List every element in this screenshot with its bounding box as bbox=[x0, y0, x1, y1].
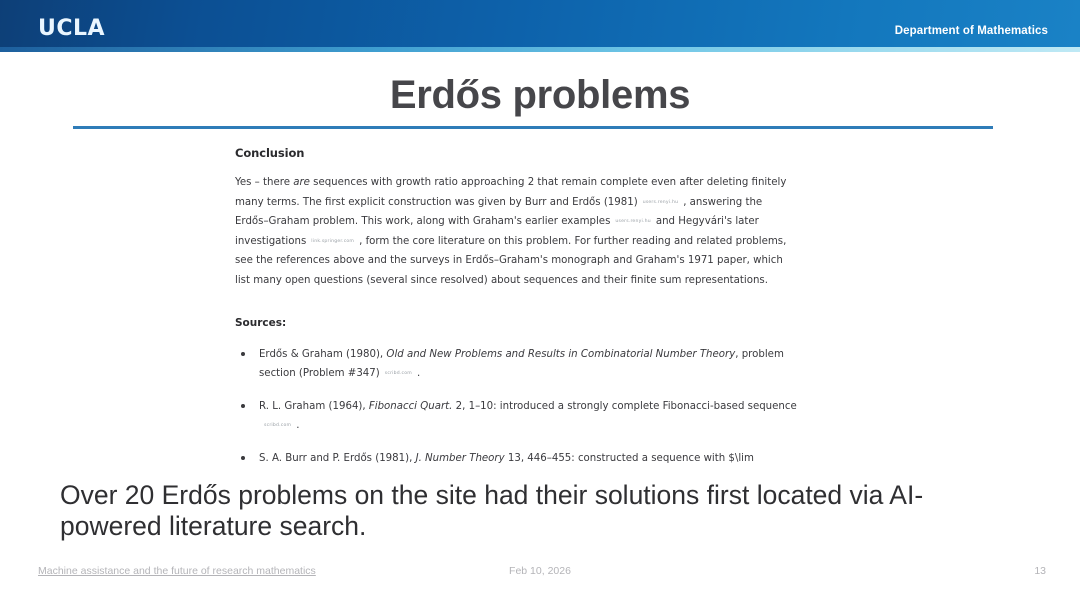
conclusion-heading: Conclusion bbox=[235, 146, 806, 160]
list-item: S. A. Burr and P. Erdős (1981), J. Numbe… bbox=[235, 449, 803, 469]
paragraph-part-1: Yes – there bbox=[235, 177, 293, 188]
department-label: Department of Mathematics bbox=[895, 25, 1048, 37]
source-title-italic: J. Number Theory bbox=[416, 453, 505, 464]
citation-chip-1[interactable]: users.renyi.hu bbox=[643, 193, 678, 213]
page-title: Erdős problems bbox=[0, 73, 1080, 118]
ucla-logo: UCLA bbox=[38, 16, 105, 41]
slide-caption: Over 20 Erdős problems on the site had t… bbox=[60, 480, 1020, 542]
sources-list: Erdős & Graham (1980), Old and New Probl… bbox=[235, 345, 803, 469]
bullet-icon bbox=[241, 352, 245, 356]
bullet-icon bbox=[241, 456, 245, 460]
list-item: R. L. Graham (1964), Fibonacci Quart. 2,… bbox=[235, 397, 803, 436]
paragraph-emphasis: are bbox=[293, 177, 310, 188]
source-text-after: 2, 1–10: introduced a strongly complete … bbox=[452, 401, 796, 412]
title-underline-rule bbox=[73, 126, 993, 129]
embedded-screenshot: Conclusion Yes – there are sequences wit… bbox=[206, 142, 806, 477]
header-accent-stripe bbox=[0, 47, 1080, 52]
source-text-before: Erdős & Graham (1980), bbox=[259, 349, 386, 360]
source-text-before: S. A. Burr and P. Erdős (1981), bbox=[259, 453, 416, 464]
slide-header-band bbox=[0, 0, 1080, 47]
source-title-italic: Fibonacci Quart. bbox=[369, 401, 453, 412]
source-tail: . bbox=[417, 368, 420, 379]
conclusion-paragraph: Yes – there are sequences with growth ra… bbox=[235, 173, 797, 291]
source-title-italic: Old and New Problems and Results in Comb… bbox=[386, 349, 735, 360]
footer-page-number: 13 bbox=[1034, 565, 1046, 577]
source-text-after: 13, 446–455: constructed a sequence with… bbox=[505, 453, 754, 464]
citation-chip-3[interactable]: link.springer.com bbox=[311, 232, 354, 252]
source-citation-chip[interactable]: scribd.com bbox=[264, 416, 291, 436]
sources-heading: Sources: bbox=[235, 317, 806, 329]
slide: UCLA Department of Mathematics Erdős pro… bbox=[0, 0, 1080, 605]
list-item: Erdős & Graham (1980), Old and New Probl… bbox=[235, 345, 803, 384]
source-tail: . bbox=[296, 420, 299, 431]
footer-date: Feb 10, 2026 bbox=[0, 565, 1080, 577]
bullet-icon bbox=[241, 404, 245, 408]
citation-chip-2[interactable]: users.renyi.hu bbox=[615, 212, 650, 232]
source-citation-chip[interactable]: scribd.com bbox=[385, 364, 412, 384]
source-text-before: R. L. Graham (1964), bbox=[259, 401, 369, 412]
